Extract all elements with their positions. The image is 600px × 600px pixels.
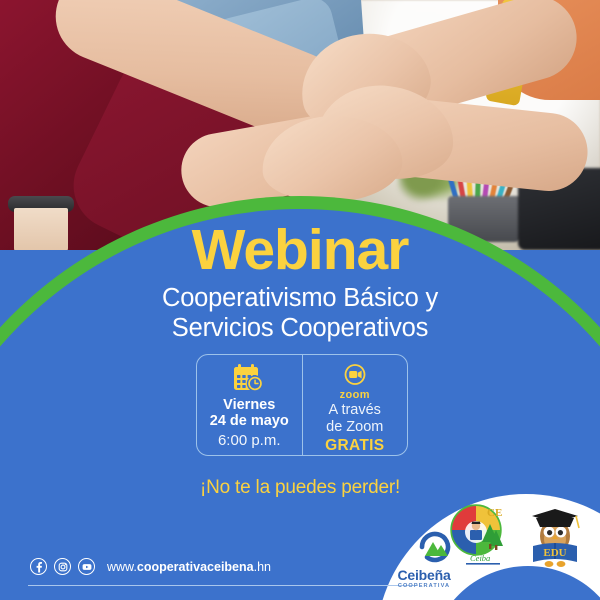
svg-text:CE: CE: [487, 507, 502, 519]
ceibena-tagline: COOPERATIVA: [392, 583, 456, 589]
ceibena-name: Ceibeña: [392, 568, 456, 582]
event-date-column: Viernes 24 de mayo 6:00 p.m.: [197, 355, 303, 455]
cenet-logo: CE Ceiba: [444, 502, 518, 570]
svg-text:Ceiba: Ceiba: [470, 553, 490, 563]
url-domain: cooperativaceibena: [137, 560, 254, 574]
website-url[interactable]: www.cooperativaceibena.hn: [107, 560, 271, 574]
facebook-icon[interactable]: [30, 558, 47, 575]
instagram-icon[interactable]: [54, 558, 71, 575]
price-badge: GRATIS: [325, 437, 384, 455]
tagline: ¡No te la puedes perder!: [0, 477, 600, 499]
event-details-box: Viernes 24 de mayo 6:00 p.m. zoom A trav…: [196, 354, 408, 456]
footer-divider: [28, 585, 418, 586]
edu-owl-logo: EDU: [524, 506, 586, 570]
footer-bar: www.cooperativaceibena.hn: [30, 558, 271, 575]
edu-label: EDU: [543, 547, 566, 559]
subtitle-line-2: Servicios Cooperativos: [0, 314, 600, 344]
platform-line-1: A través: [329, 402, 381, 419]
poster-content: Webinar Cooperativismo Básico y Servicio…: [0, 0, 600, 600]
page-subtitle: Cooperativismo Básico y Servicios Cooper…: [0, 284, 600, 343]
url-tld: .hn: [254, 560, 271, 574]
youtube-icon[interactable]: [78, 558, 95, 575]
url-prefix: www.: [107, 560, 137, 574]
event-time: 6:00 p.m.: [218, 432, 281, 449]
event-platform-column: zoom A través de Zoom GRATIS: [303, 355, 408, 455]
page-title: Webinar: [0, 222, 600, 279]
poster-canvas: Webinar Cooperativismo Básico y Servicio…: [0, 0, 600, 600]
event-day: Viernes: [223, 397, 275, 413]
subtitle-line-1: Cooperativismo Básico y: [0, 284, 600, 314]
event-date: 24 de mayo: [210, 413, 289, 429]
zoom-camera-icon: [333, 363, 377, 392]
calendar-clock-icon: [233, 363, 265, 393]
platform-line-2: de Zoom: [326, 419, 383, 436]
